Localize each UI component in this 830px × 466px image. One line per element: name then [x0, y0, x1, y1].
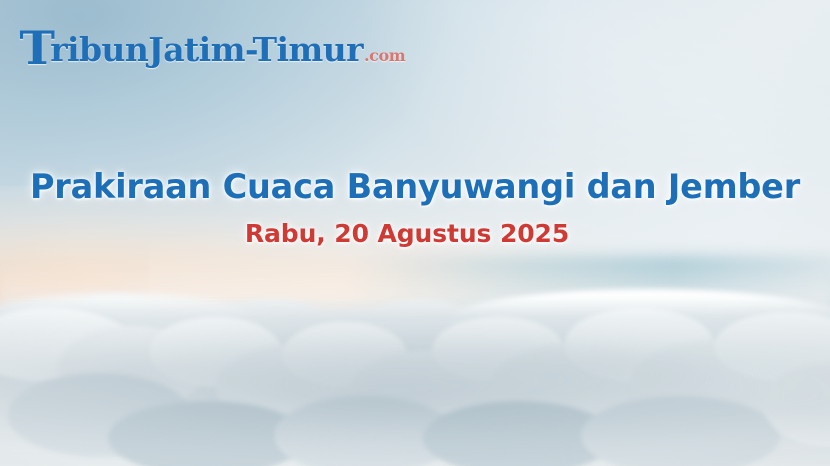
logo-wordmark: ribunJatim-Timur — [50, 33, 363, 66]
site-logo[interactable]: T ribunJatim-Timur .com — [20, 22, 405, 68]
page-title: Prakiraan Cuaca Banyuwangi dan Jember — [0, 168, 830, 206]
page-date-subtitle: Rabu, 20 Agustus 2025 — [0, 220, 822, 249]
cloud-deck-shading — [0, 308, 830, 466]
weather-banner: T ribunJatim-Timur .com Prakiraan Cuaca … — [0, 0, 830, 466]
logo-dropcap-t: T — [19, 25, 54, 71]
logo-tld-suffix: .com — [364, 48, 405, 64]
